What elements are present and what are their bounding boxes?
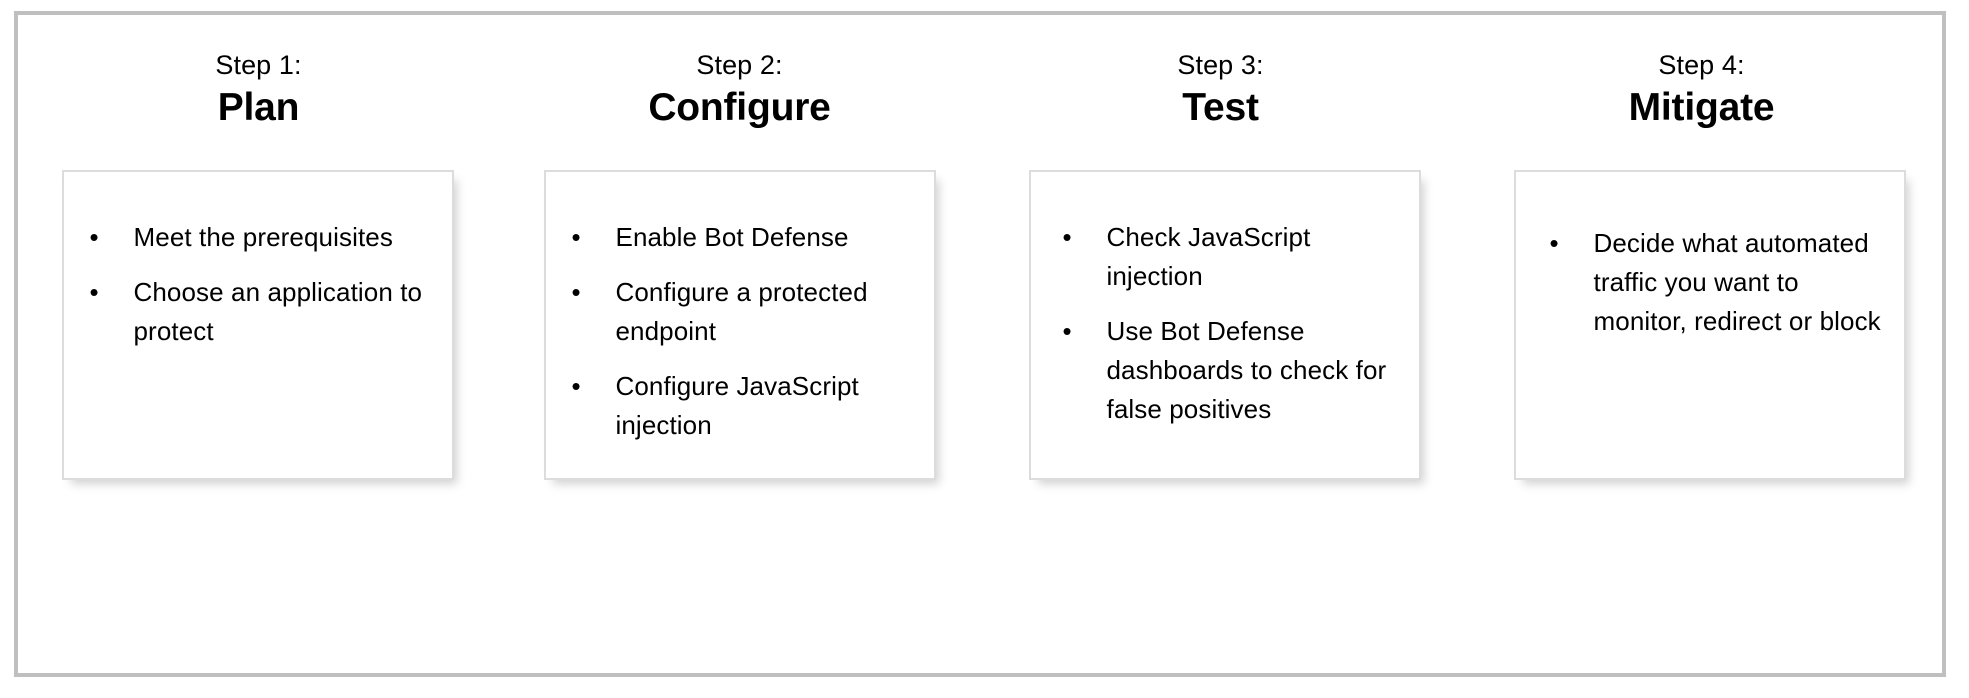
step-header-4: Step 4: Mitigate	[1461, 48, 1942, 132]
bullet-list-2: • Enable Bot Defense • Configure a prote…	[546, 172, 934, 445]
step-header-2: Step 2: Configure	[499, 48, 980, 132]
bullet-text: Configure a protected endpoint	[616, 273, 912, 351]
list-item: • Configure a protected endpoint	[558, 273, 912, 351]
step-eyebrow-4: Step 4:	[1461, 48, 1942, 82]
bullet-text: Configure JavaScript injection	[616, 367, 912, 445]
diagram-frame: Step 1: Plan • Meet the prerequisites • …	[14, 11, 1946, 677]
step-title-4: Mitigate	[1461, 84, 1942, 132]
list-item: • Configure JavaScript injection	[558, 367, 912, 445]
bullet-dot-icon: •	[558, 367, 616, 406]
step-card-3: • Check JavaScript injection • Use Bot D…	[1029, 170, 1421, 480]
bullet-dot-icon: •	[558, 273, 616, 312]
step-eyebrow-2: Step 2:	[499, 48, 980, 82]
list-item: • Choose an application to protect	[76, 273, 430, 351]
step-column-1: Step 1: Plan • Meet the prerequisites • …	[18, 15, 499, 480]
bullet-list-4: • Decide what automated traffic you want…	[1516, 172, 1904, 341]
bullet-list-1: • Meet the prerequisites • Choose an app…	[64, 172, 452, 351]
list-item: • Decide what automated traffic you want…	[1536, 224, 1882, 341]
step-column-4: Step 4: Mitigate • Decide what automated…	[1461, 15, 1942, 480]
bullet-text: Choose an application to protect	[134, 273, 430, 351]
step-title-2: Configure	[499, 84, 980, 132]
bullet-dot-icon: •	[1536, 224, 1594, 263]
bullet-text: Enable Bot Defense	[616, 218, 912, 257]
step-header-3: Step 3: Test	[980, 48, 1461, 132]
bullet-dot-icon: •	[1049, 312, 1107, 351]
steps-container: Step 1: Plan • Meet the prerequisites • …	[18, 15, 1942, 673]
step-card-1: • Meet the prerequisites • Choose an app…	[62, 170, 454, 480]
step-card-4: • Decide what automated traffic you want…	[1514, 170, 1906, 480]
step-title-1: Plan	[18, 84, 499, 132]
bullet-text: Use Bot Defense dashboards to check for …	[1107, 312, 1397, 429]
bullet-dot-icon: •	[1049, 218, 1107, 257]
step-eyebrow-3: Step 3:	[980, 48, 1461, 82]
step-title-3: Test	[980, 84, 1461, 132]
step-header-1: Step 1: Plan	[18, 48, 499, 132]
step-column-3: Step 3: Test • Check JavaScript injectio…	[980, 15, 1461, 480]
bullet-dot-icon: •	[558, 218, 616, 257]
bullet-list-3: • Check JavaScript injection • Use Bot D…	[1031, 172, 1419, 429]
bullet-text: Meet the prerequisites	[134, 218, 430, 257]
step-column-2: Step 2: Configure • Enable Bot Defense •…	[499, 15, 980, 480]
list-item: • Meet the prerequisites	[76, 218, 430, 257]
step-eyebrow-1: Step 1:	[18, 48, 499, 82]
bullet-dot-icon: •	[76, 218, 134, 257]
step-card-2: • Enable Bot Defense • Configure a prote…	[544, 170, 936, 480]
list-item: • Enable Bot Defense	[558, 218, 912, 257]
bullet-dot-icon: •	[76, 273, 134, 312]
bullet-text: Decide what automated traffic you want t…	[1594, 224, 1882, 341]
list-item: • Check JavaScript injection	[1049, 218, 1397, 296]
list-item: • Use Bot Defense dashboards to check fo…	[1049, 312, 1397, 429]
bullet-text: Check JavaScript injection	[1107, 218, 1397, 296]
